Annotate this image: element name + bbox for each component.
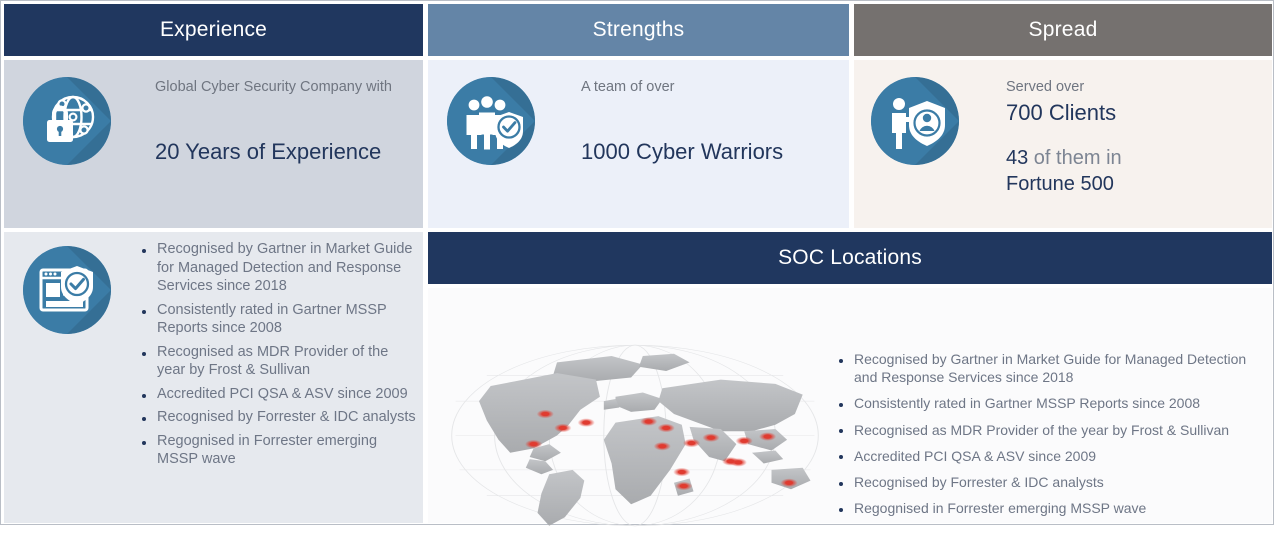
- list-item: Consistently rated in Gartner MSSP Repor…: [832, 394, 1262, 412]
- list-item: Regognised in Forrester emerging MSSP wa…: [135, 432, 420, 469]
- globe-padlock-icon: [23, 77, 111, 165]
- list-item: Regognised in Forrester emerging MSSP wa…: [832, 499, 1262, 517]
- map-marker[interactable]: [645, 419, 653, 423]
- map-marker[interactable]: [680, 484, 688, 488]
- experience-headline: 20 Years of Experience: [155, 138, 410, 167]
- map-marker[interactable]: [662, 426, 670, 430]
- experience-lead-text: Global Cyber Security Company with: [155, 78, 405, 98]
- soc-bullet-list: Recognised by Gartner in Market Guide fo…: [832, 350, 1262, 525]
- card-experience-body: Global Cyber Security Company with 20 Ye…: [4, 60, 423, 228]
- map-marker[interactable]: [658, 444, 666, 448]
- spread-fortune-line-1: 43 of them in: [1006, 145, 1256, 171]
- world-map: [440, 328, 830, 543]
- card-strengths-body: A team of over 1000 Cyber Warriors: [428, 60, 849, 228]
- list-item: Recognised by Gartner in Market Guide fo…: [832, 350, 1262, 386]
- person-shield-user-icon: [871, 77, 959, 165]
- map-marker[interactable]: [785, 481, 793, 485]
- map-marker[interactable]: [559, 426, 567, 430]
- window-shield-check-icon: [23, 246, 111, 334]
- list-item: Recognised as MDR Provider of the year b…: [135, 343, 420, 380]
- spread-stat-middle: of them in: [1028, 147, 1121, 169]
- card-experience-title: Experience: [160, 18, 267, 42]
- list-item: Accredited PCI QSA & ASV since 2009: [135, 385, 420, 404]
- spread-headline: 700 Clients: [1006, 99, 1256, 128]
- card-spread-header: Spread: [854, 4, 1272, 56]
- card-awards: Recognised by Gartner in Market Guide fo…: [4, 232, 423, 523]
- card-spread-body: Served over 700 Clients 43 of them in Fo…: [854, 60, 1272, 228]
- card-soc-locations: SOC Locations: [428, 232, 1272, 523]
- map-marker[interactable]: [707, 436, 715, 440]
- spread-lead-text: Served over: [1006, 78, 1256, 98]
- list-item: Recognised by Forrester & IDC analysts: [832, 473, 1262, 491]
- strengths-lead-text: A team of over: [581, 78, 831, 98]
- infographic-slide: Experience: [0, 0, 1274, 525]
- list-item: Recognised as MDR Provider of the year b…: [832, 421, 1262, 439]
- card-soc-title: SOC Locations: [778, 246, 922, 270]
- card-soc-body: Recognised by Gartner in Market Guide fo…: [428, 288, 1272, 523]
- spread-stat-tail: Fortune 500: [1006, 171, 1256, 197]
- awards-bullet-list: Recognised by Gartner in Market Guide fo…: [135, 240, 420, 474]
- map-marker[interactable]: [734, 460, 742, 464]
- map-marker[interactable]: [530, 442, 538, 446]
- card-experience: Experience: [4, 4, 423, 228]
- card-spread: Spread Served: [854, 4, 1272, 228]
- spread-stat-number: 43: [1006, 147, 1028, 169]
- team-shield-check-icon: [447, 77, 535, 165]
- card-awards-body: Recognised by Gartner in Market Guide fo…: [4, 232, 423, 523]
- list-item: Recognised by Forrester & IDC analysts: [135, 408, 420, 427]
- strengths-headline: 1000 Cyber Warriors: [581, 138, 841, 167]
- list-item: Consistently rated in Gartner MSSP Repor…: [135, 301, 420, 338]
- map-marker[interactable]: [678, 470, 686, 474]
- card-strengths-title: Strengths: [593, 18, 685, 42]
- card-soc-header: SOC Locations: [428, 232, 1272, 284]
- card-experience-header: Experience: [4, 4, 423, 56]
- card-spread-title: Spread: [1029, 18, 1098, 42]
- map-marker[interactable]: [541, 412, 549, 416]
- card-strengths-header: Strengths: [428, 4, 849, 56]
- map-marker[interactable]: [688, 441, 696, 445]
- list-item: Recognised by Gartner in Market Guide fo…: [135, 240, 420, 296]
- map-marker[interactable]: [740, 439, 748, 443]
- map-marker[interactable]: [764, 435, 772, 439]
- card-strengths: Strengths: [428, 4, 849, 228]
- map-marker[interactable]: [582, 421, 590, 425]
- list-item: Accredited PCI QSA & ASV since 2009: [832, 447, 1262, 465]
